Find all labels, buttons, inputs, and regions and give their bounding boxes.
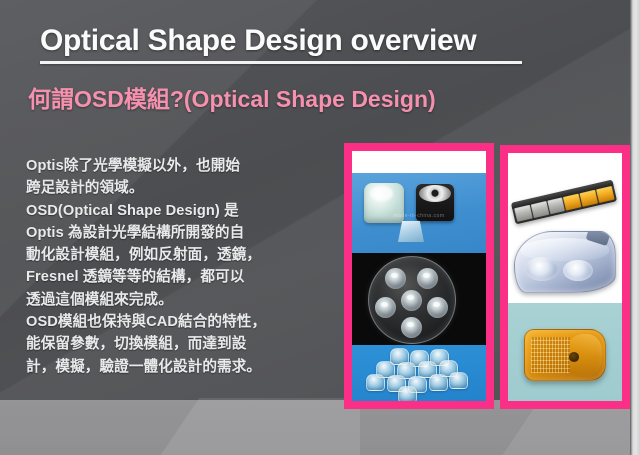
body-line: OSD(Optical Shape Design) 是 (26, 200, 331, 222)
page-title: Optical Shape Design overview (40, 24, 560, 58)
slide-canvas: Optical Shape Design overview 何謂OSD模組?(O… (0, 0, 640, 455)
photo-watermark: made-in-china.com (363, 213, 476, 219)
light-bar-cell-amber (596, 186, 615, 203)
amber-turn-signal-lens-photo (508, 303, 622, 401)
clear-prism-block (398, 221, 424, 242)
array-lens-cell (375, 297, 396, 318)
array-lens-cell (401, 290, 422, 311)
title-underline (40, 61, 522, 64)
page-subtitle: 何謂OSD模組?(Optical Shape Design) (28, 80, 588, 114)
array-lens-cell (385, 268, 406, 289)
body-line: 動化設計模組，例如反射面，透鏡， (26, 244, 331, 266)
body-line: OSD模組也保持與CAD結合的特性， (26, 311, 331, 333)
amber-turn-signal-lens (524, 329, 606, 381)
collimator-lens-and-reflector-photo: made-in-china.com (352, 173, 486, 253)
car-headlamp-assembly-photo (514, 231, 616, 293)
amber-lens-flutes-cross (531, 337, 569, 373)
optical-components-panel-inner: made-in-china.com (352, 151, 486, 401)
automotive-lighting-panel (500, 145, 630, 409)
light-bar-cell (547, 197, 566, 214)
small-lens-batch-photo (352, 345, 486, 401)
body-line: 跨足設計的領域。 (26, 177, 331, 199)
light-bar-cell-amber (580, 189, 599, 206)
background-diagonal-band-3 (0, 398, 360, 455)
optical-components-panel: made-in-china.com (344, 143, 494, 409)
array-lens-cell (417, 268, 438, 289)
light-bar-cell (514, 205, 533, 222)
slide-right-edge-strip (630, 0, 640, 455)
lens-array-disc (368, 256, 456, 344)
small-lens (429, 374, 448, 391)
small-lens (449, 372, 468, 389)
body-paragraph: Optis除了光學模擬以外，也開始 跨足設計的領域。 OSD(Optical S… (26, 155, 331, 378)
light-bar-cell (530, 201, 549, 218)
headlamp-high-beam-lens (563, 260, 593, 282)
small-lens (398, 386, 417, 401)
light-bar-cell-amber (563, 193, 582, 210)
reflector-cone (419, 185, 451, 202)
body-line: Fresnel 透鏡等等的結構，都可以 (26, 266, 331, 288)
led-light-bar-photo (511, 180, 617, 225)
array-lens-cell (401, 317, 422, 338)
body-line: 計，模擬，驗證一體化設計的需求。 (26, 356, 331, 378)
led-light-bar-and-headlamp-photo (508, 175, 622, 303)
automotive-lighting-panel-inner (508, 153, 622, 401)
array-lens-cell (427, 297, 448, 318)
body-line: Optis除了光學模擬以外，也開始 (26, 155, 331, 177)
multi-lens-array-disc-photo (352, 253, 486, 345)
body-line: 能保留參數，切換模組，而達到設 (26, 333, 331, 355)
headlamp-low-beam-lens (525, 257, 559, 281)
body-line: 透過這個模組來完成。 (26, 289, 331, 311)
body-line: Optis 為設計光學結構所開發的自 (26, 222, 331, 244)
small-lens (366, 374, 385, 391)
